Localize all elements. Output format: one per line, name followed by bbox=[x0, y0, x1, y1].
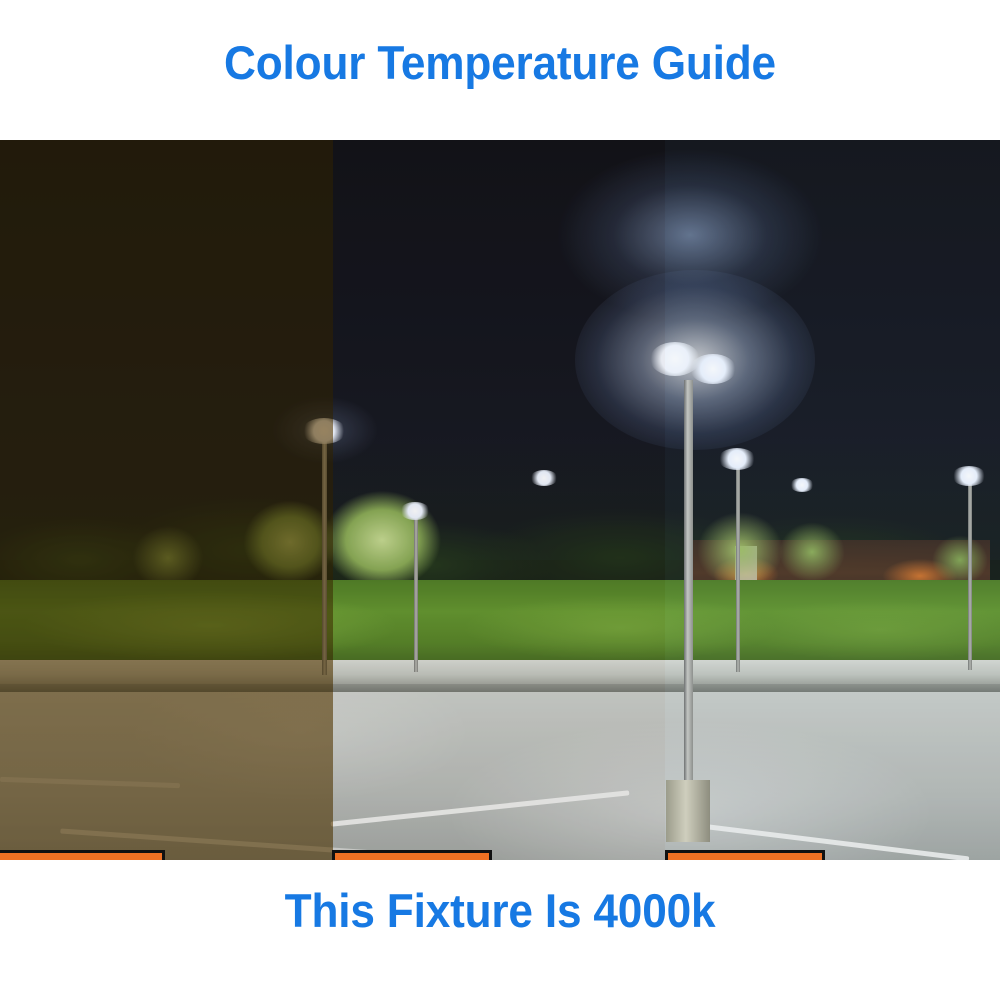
background-lamp-head bbox=[790, 478, 814, 492]
background-lamp-head bbox=[718, 448, 756, 470]
background-light-pole bbox=[736, 460, 740, 672]
main-light-pole bbox=[684, 380, 693, 790]
background-lamp-head bbox=[952, 466, 986, 486]
main-lamp-head-right bbox=[690, 354, 736, 384]
comparison-photo: 3000k 4000k 5000k bbox=[0, 140, 1000, 860]
background-lamp-head bbox=[530, 470, 558, 486]
background-lamp-head bbox=[400, 502, 430, 520]
background-light-pole bbox=[968, 478, 972, 670]
zone-3000k-darken bbox=[0, 140, 333, 860]
fixture-temperature-caption: This Fixture Is 4000k bbox=[30, 884, 970, 938]
temperature-label-4000k: 4000k bbox=[332, 850, 492, 860]
light-pole-base bbox=[666, 780, 710, 842]
temperature-label-5000k: 5000k bbox=[665, 850, 825, 860]
page-title: Colour Temperature Guide bbox=[30, 36, 970, 90]
background-light-pole bbox=[414, 512, 418, 672]
temperature-label-3000k: 3000k bbox=[0, 850, 165, 860]
